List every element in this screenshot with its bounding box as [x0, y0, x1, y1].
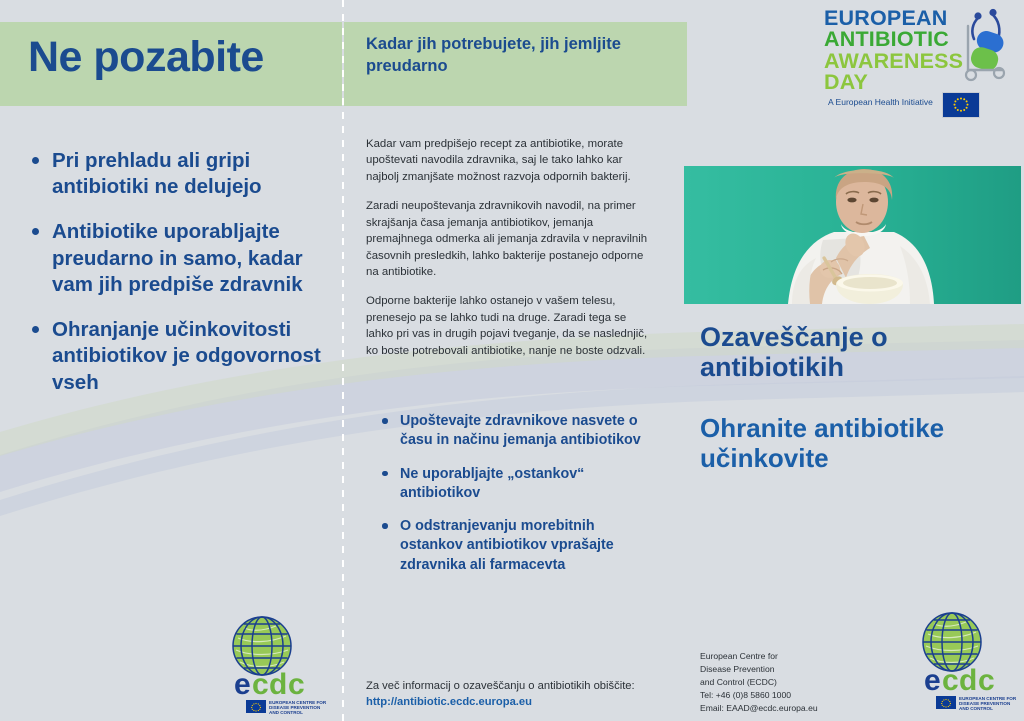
contact-line-3: and Control (ECDC)	[700, 676, 890, 689]
poster-page: Ne pozabite Kadar jih potrebujete, jih j…	[0, 0, 1024, 721]
right-heading-secondary: Ohranite antibiotike učinkovite	[700, 414, 1016, 473]
svg-text:d: d	[269, 668, 287, 701]
page-title: Ne pozabite	[28, 36, 338, 79]
eaad-line-2: ANTIBIOTIC	[824, 29, 964, 50]
eaad-wordmark: EUROPEAN ANTIBIOTIC AWARENESS DAY	[824, 8, 964, 93]
center-body-copy: Kadar vam predpišejo recept za antibioti…	[366, 136, 656, 372]
svg-text:c: c	[252, 668, 269, 701]
eu-flag-icon	[942, 92, 980, 118]
page-subtitle: Kadar jih potrebujete, jih jemljite preu…	[366, 34, 666, 78]
ecdc-logo-left: e c d c EUROPEAN CENTRE FOR DISEASE PREV…	[214, 614, 338, 718]
more-info-footer: Za več informacij o ozaveščanju o antibi…	[366, 679, 666, 710]
pill-trolley-icon	[952, 6, 1016, 86]
right-heading-primary: Ozaveščanje o antibiotikih	[700, 322, 1016, 382]
eaad-line-3: AWARENESS DAY	[824, 51, 964, 94]
list-item: Upoštevajte zdravnikove nasvete o času i…	[380, 412, 660, 451]
contact-line-2: Disease Prevention	[700, 663, 890, 676]
fold-line	[342, 0, 344, 721]
eaad-logo: EUROPEAN ANTIBIOTIC AWARENESS DAY A Euro…	[824, 8, 1016, 118]
center-bullet-list: Upoštevajte zdravnikove nasvete o času i…	[380, 412, 660, 589]
more-info-text: Za več informacij o ozaveščanju o antibi…	[366, 679, 666, 695]
svg-text:d: d	[959, 664, 977, 697]
contact-email[interactable]: Email: EAAD@ecdc.europa.eu	[700, 702, 890, 715]
contact-phone: Tel: +46 (0)8 5860 1000	[700, 689, 890, 702]
svg-text:AND CONTROL: AND CONTROL	[959, 706, 993, 711]
list-item: Pri prehladu ali gripi antibiotiki ne de…	[30, 148, 330, 200]
paragraph: Odporne bakterije lahko ostanejo v vašem…	[366, 293, 656, 359]
eaad-initiative-label: A European Health Initiative	[828, 97, 933, 107]
svg-text:e: e	[234, 668, 251, 701]
list-item: O odstranjevanju morebitnih ostankov ant…	[380, 517, 660, 575]
paragraph: Zaradi neupoštevanja zdravnikovih navodi…	[366, 198, 656, 280]
svg-text:AND CONTROL: AND CONTROL	[269, 710, 303, 715]
eaad-line-1: EUROPEAN	[824, 8, 964, 29]
photo-woman-with-bowl	[684, 166, 1021, 304]
list-item: Antibiotike uporabljajte preudarno in sa…	[30, 219, 330, 298]
ecdc-logo-right: e c d c EUROPEAN CENTRE FOR DISEASE PREV…	[904, 610, 1024, 714]
contact-block: European Centre for Disease Prevention a…	[700, 650, 890, 714]
svg-text:e: e	[924, 664, 941, 697]
list-item: Ohranjanje učinkovitosti antibiotikov je…	[30, 317, 330, 396]
svg-text:c: c	[288, 668, 305, 701]
list-item: Ne uporabljajte „ostankov“ antibiotikov	[380, 465, 660, 504]
left-bullet-list: Pri prehladu ali gripi antibiotiki ne de…	[30, 148, 330, 415]
paragraph: Kadar vam predpišejo recept za antibioti…	[366, 136, 656, 185]
svg-text:c: c	[978, 664, 995, 697]
contact-line-1: European Centre for	[700, 650, 890, 663]
svg-text:c: c	[942, 664, 959, 697]
antibiotic-website-link[interactable]: http://antibiotic.ecdc.europa.eu	[366, 695, 666, 711]
